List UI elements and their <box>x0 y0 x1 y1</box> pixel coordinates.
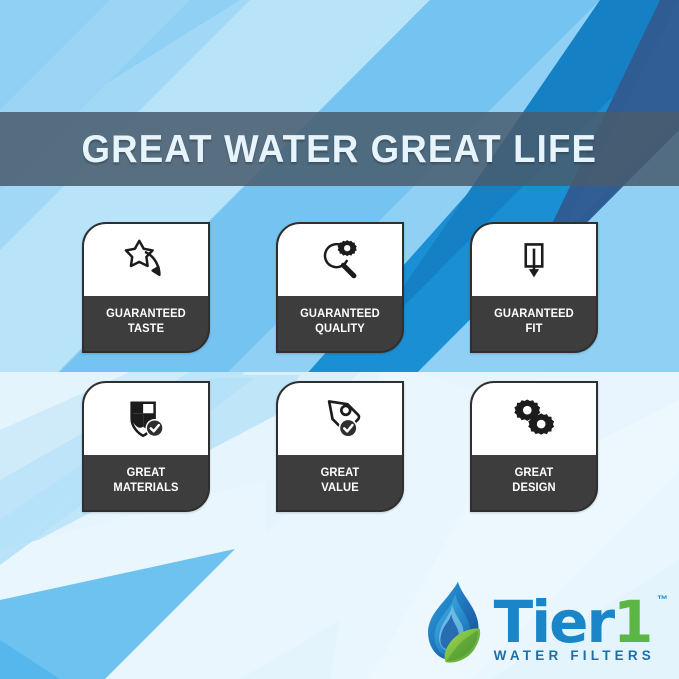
magnifier-gear-icon <box>278 224 402 296</box>
feature-label-line2: DESIGN <box>512 481 555 496</box>
feature-label-line2: TASTE <box>127 322 163 337</box>
feature-card-label: GUARANTEED FIT <box>473 296 593 351</box>
feature-card-label: GREAT VALUE <box>279 455 399 510</box>
logo-word-tier1: Tier1™ <box>494 598 657 647</box>
feature-card-label: GREAT MATERIALS <box>85 455 205 510</box>
feature-card-great-design[interactable]: GREAT DESIGN <box>470 381 598 512</box>
feature-label-line1: GUARANTEED <box>300 307 380 322</box>
insert-down-arrow-icon <box>472 224 596 296</box>
feature-label-line2: MATERIALS <box>113 481 178 496</box>
water-drop-leaf-icon <box>424 579 490 665</box>
promo-poster: GREAT WATER GREAT LIFE GUARANTEED TASTE <box>0 0 679 679</box>
feature-card-great-materials[interactable]: GREAT MATERIALS <box>82 381 210 512</box>
logo-word-tier: Tier <box>494 588 613 656</box>
feature-label-line2: FIT <box>525 322 542 337</box>
feature-card-label: GUARANTEED QUALITY <box>279 296 399 351</box>
two-gears-icon <box>472 383 596 455</box>
shield-check-icon <box>84 383 208 455</box>
feature-label-line1: GREAT <box>320 466 359 481</box>
logo-wordmark: Tier1™ WATER FILTERS <box>494 598 657 665</box>
shooting-star-icon <box>84 224 208 296</box>
trademark-symbol: ™ <box>657 596 668 605</box>
feature-label-line1: GUARANTEED <box>106 307 186 322</box>
logo-word-one: 1 <box>613 588 651 656</box>
feature-label-line1: GREAT <box>514 466 553 481</box>
feature-label-line1: GREAT <box>126 466 165 481</box>
feature-card-great-value[interactable]: GREAT VALUE <box>276 381 404 512</box>
feature-card-label: GUARANTEED TASTE <box>85 296 205 351</box>
feature-card-grid: GUARANTEED TASTE GUARANTEED QUALITY <box>0 222 679 512</box>
feature-card-guaranteed-fit[interactable]: GUARANTEED FIT <box>470 222 598 353</box>
feature-card-guaranteed-quality[interactable]: GUARANTEED QUALITY <box>276 222 404 353</box>
headline-banner: GREAT WATER GREAT LIFE <box>0 112 679 186</box>
feature-label-line1: GUARANTEED <box>494 307 574 322</box>
tier1-logo: Tier1™ WATER FILTERS <box>424 579 657 665</box>
feature-card-guaranteed-taste[interactable]: GUARANTEED TASTE <box>82 222 210 353</box>
feature-label-line2: VALUE <box>321 481 358 496</box>
price-tag-check-icon <box>278 383 402 455</box>
banner-headline: GREAT WATER GREAT LIFE <box>82 130 598 169</box>
feature-label-line2: QUALITY <box>315 322 365 337</box>
feature-card-label: GREAT DESIGN <box>473 455 593 510</box>
